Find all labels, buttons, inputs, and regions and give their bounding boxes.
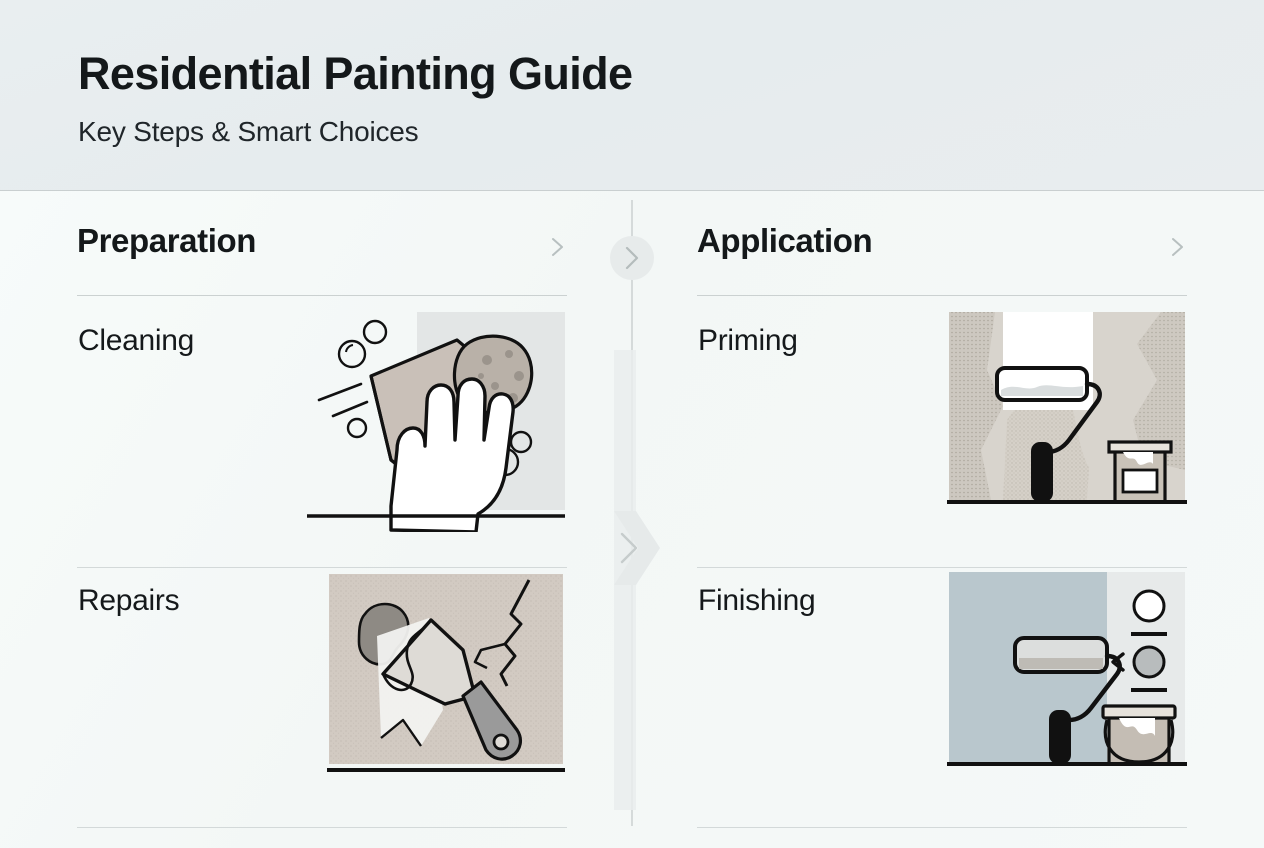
- roller-loaded-paint: [1019, 658, 1103, 669]
- item-divider: [697, 567, 1187, 568]
- illustration-priming: [947, 310, 1187, 532]
- column-title: Application: [697, 222, 872, 260]
- page-subtitle: Key Steps & Smart Choices: [78, 116, 418, 148]
- column-divider: [77, 295, 567, 296]
- item-priming[interactable]: Priming: [697, 310, 1187, 568]
- item-divider: [77, 827, 567, 828]
- column-application: Application Priming: [697, 210, 1187, 282]
- color-swatch-light[interactable]: [1134, 591, 1164, 621]
- can-lid: [1109, 442, 1171, 452]
- swatch-underline-light: [1131, 632, 1167, 636]
- item-divider: [77, 567, 567, 568]
- illustration-repairs: [325, 570, 567, 792]
- item-label: Finishing: [698, 584, 815, 618]
- illustration-finishing: [947, 570, 1187, 792]
- chevron-right-icon[interactable]: [549, 236, 565, 258]
- swatch-underline-dark: [1131, 688, 1167, 692]
- color-swatch-dark[interactable]: [1134, 647, 1164, 677]
- page-title: Residential Painting Guide: [78, 48, 632, 100]
- flow-connector: [600, 186, 664, 826]
- item-label: Cleaning: [78, 324, 194, 358]
- item-cleaning[interactable]: Cleaning: [77, 310, 567, 568]
- item-repairs[interactable]: Repairs: [77, 570, 567, 828]
- roller-handle: [1049, 710, 1071, 764]
- bucket-lid: [1103, 706, 1175, 718]
- connector-node[interactable]: [610, 236, 654, 280]
- roller-handle: [1031, 442, 1053, 502]
- item-label: Repairs: [78, 584, 179, 618]
- item-finishing[interactable]: Finishing: [697, 570, 1187, 828]
- column-header-preparation[interactable]: Preparation: [77, 210, 567, 282]
- item-divider: [697, 827, 1187, 828]
- column-header-application[interactable]: Application: [697, 210, 1187, 282]
- column-preparation: Preparation Cleaning: [77, 210, 567, 282]
- chevron-right-icon[interactable]: [1169, 236, 1185, 258]
- column-divider: [697, 295, 1187, 296]
- item-label: Priming: [698, 324, 798, 358]
- column-title: Preparation: [77, 222, 256, 260]
- motion-lines: [319, 384, 367, 416]
- handle-hole: [494, 735, 508, 749]
- can-label: [1123, 470, 1157, 492]
- illustration-cleaning: [305, 310, 567, 532]
